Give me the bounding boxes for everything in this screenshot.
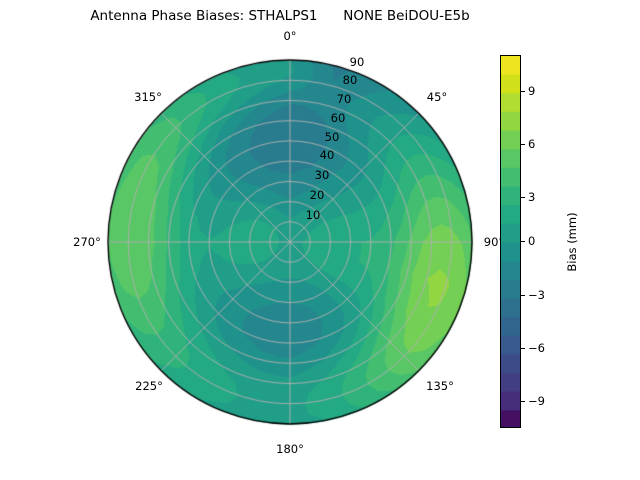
- angular-tick-270: 270°: [73, 235, 101, 249]
- colorbar-tick-label: 6: [528, 137, 535, 151]
- colorbar-tick-label: 9: [528, 84, 535, 98]
- colorbar-tick-label: 3: [528, 190, 535, 204]
- angular-tick-315: 315°: [134, 90, 162, 104]
- radial-tick-80: 80: [343, 73, 358, 87]
- radial-tick-40: 40: [320, 148, 335, 162]
- colorbar-tick-mark: [521, 241, 525, 242]
- colorbar-tick-label: −3: [528, 288, 545, 302]
- radial-tick-10: 10: [306, 208, 321, 222]
- angular-tick-180: 180°: [276, 442, 304, 456]
- colorbar-tick-mark: [521, 401, 525, 402]
- colorbar-tick-mark: [521, 348, 525, 349]
- radial-tick-70: 70: [337, 92, 352, 106]
- angular-tick-225: 225°: [135, 379, 163, 393]
- radial-tick-30: 30: [315, 168, 330, 182]
- colorbar-tick-mark: [521, 91, 525, 92]
- colorbar-tick-mark: [521, 197, 525, 198]
- angular-tick-0: 0°: [283, 29, 296, 43]
- colorbar-tick-mark: [521, 144, 525, 145]
- colorbar-tick-mark: [521, 295, 525, 296]
- angular-tick-45: 45°: [427, 90, 447, 104]
- colorbar-tick-label: 0: [528, 234, 535, 248]
- angular-tick-135: 135°: [426, 379, 454, 393]
- colorbar-gradient: [500, 55, 521, 428]
- figure-canvas: Antenna Phase Biases: STHALPS1 NONE BeiD…: [0, 0, 640, 480]
- radial-tick-50: 50: [325, 130, 340, 144]
- colorbar-axis-label: Bias (mm): [565, 212, 579, 271]
- colorbar-tick-label: −6: [528, 341, 545, 355]
- radial-tick-90: 90: [350, 55, 365, 69]
- colorbar-tick-label: −9: [528, 394, 545, 408]
- radial-tick-20: 20: [310, 188, 325, 202]
- radial-tick-60: 60: [331, 111, 346, 125]
